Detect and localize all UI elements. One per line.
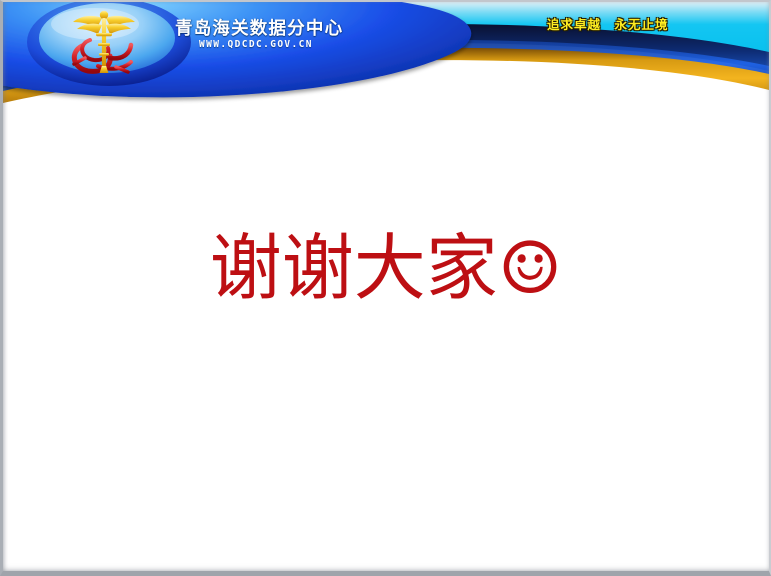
slogan-text: 追求卓越 永无止境: [547, 14, 669, 33]
thanks-block: 谢谢大家☺: [3, 232, 769, 304]
org-title: 青岛海关数据分中心: [175, 15, 343, 40]
slide-body: 谢谢大家☺: [3, 114, 769, 571]
thanks-text: 谢谢大家☺: [210, 232, 563, 304]
slide-frame: 青岛海关数据分中心 WWW.QDCDC.GOV.CN 追求卓越 永无止境 谢谢大…: [0, 0, 771, 576]
org-url: WWW.QDCDC.GOV.CN: [199, 39, 313, 50]
